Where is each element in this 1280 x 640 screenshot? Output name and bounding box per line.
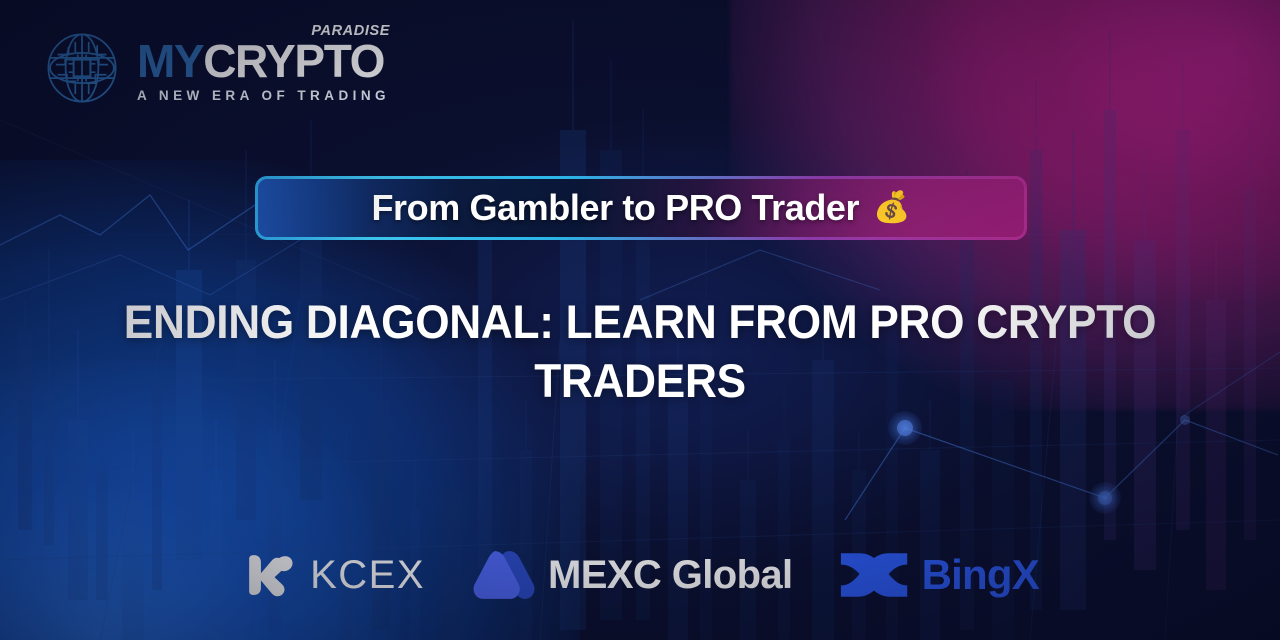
promo-banner: PARADISE MYCRYPTO A NEW ERA OF TRADING F… (0, 0, 1280, 640)
vignette-overlay (0, 0, 1280, 640)
